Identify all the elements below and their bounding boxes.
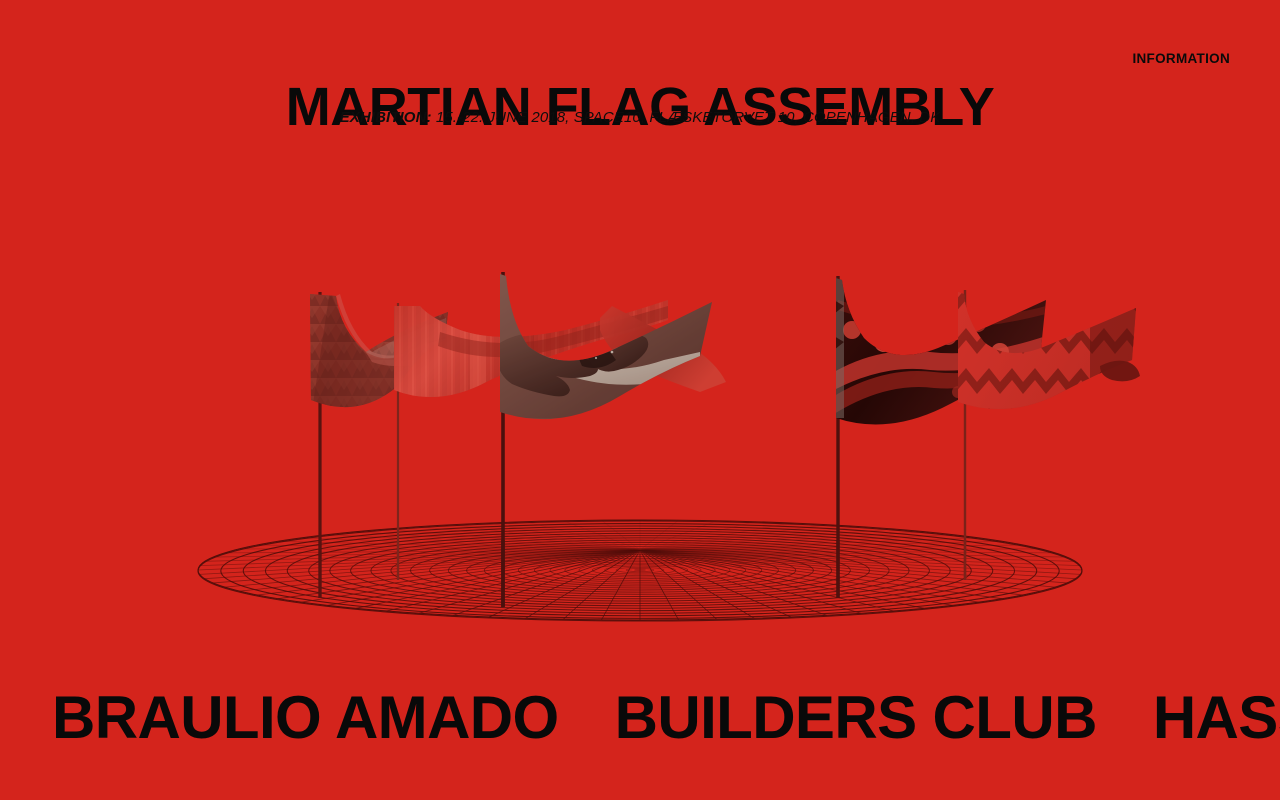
exhibition-details: 15.-22. JUNE 2018, SPACE10, FLÆSKETORVET… xyxy=(436,109,940,126)
artists-marquee: BRAULIO AMADOBUILDERS CLUBHASSAN xyxy=(0,682,1280,754)
flag-5-zigzag-chevron xyxy=(954,286,1144,426)
flag-5-tip xyxy=(1100,361,1140,382)
exhibition-info: EXHIBITION: 15.-22. JUNE 2018, SPACE10, … xyxy=(0,108,1280,128)
information-link[interactable]: INFORMATION xyxy=(1132,51,1230,66)
exhibition-label: EXHIBITION: xyxy=(340,109,432,126)
flag-5-pattern xyxy=(954,286,1144,426)
page-header: MARTIAN FLAG ASSEMBLY EXHIBITION: 15.-22… xyxy=(0,0,1280,140)
artists-track: BRAULIO AMADOBUILDERS CLUBHASSAN xyxy=(52,682,1280,754)
ground-grid xyxy=(198,520,1082,621)
artist-name[interactable]: HASSAN xyxy=(1153,682,1280,754)
artist-name[interactable]: BUILDERS CLUB xyxy=(615,682,1097,754)
artist-name[interactable]: BRAULIO AMADO xyxy=(52,682,559,754)
